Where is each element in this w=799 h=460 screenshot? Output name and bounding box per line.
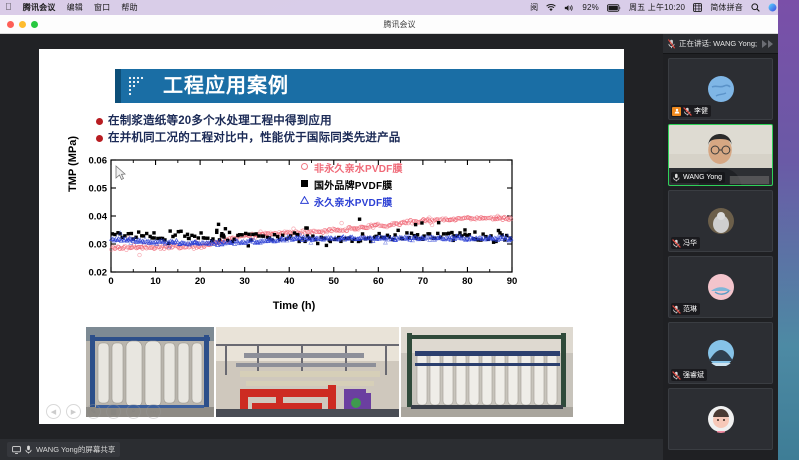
participant-name: 强睿斌 [683,370,704,380]
svg-text:0.06: 0.06 [89,155,108,166]
desktop-wallpaper-strip [778,0,799,460]
prev-slide-icon[interactable]: ◀ [46,404,61,419]
menubar-clock[interactable]: 周五 上午10:20 [629,2,685,13]
search-icon[interactable] [751,3,760,12]
chart-plot-area: 0.020.030.040.050.060102030405060708090 [69,154,519,299]
filled-square-marker-icon [299,179,309,190]
participant-tile[interactable]: 冯华 [668,190,773,252]
bullet-text: 在并机同工况的工程对比中，性能优于国际同类先进产品 [108,131,401,145]
ime-indicator[interactable]: 简体拼音 [710,2,743,13]
window-traffic-lights [7,21,38,28]
bullet-dot-icon [96,118,103,125]
active-speaker-label: 正在讲话: WANG Yong; [679,38,757,49]
open-circle-marker-icon [299,162,309,173]
participants-panel: 正在讲话: WANG Yong; [663,34,778,460]
dot-pattern-icon [127,75,149,97]
host-badge-icon [672,107,681,116]
microphone-icon [25,445,32,454]
bullet-dot-icon [96,135,103,142]
svg-text:0: 0 [108,276,113,287]
wifi-icon[interactable] [546,4,556,12]
svg-text:0.03: 0.03 [89,239,108,250]
avatar [707,339,735,367]
battery-percent: 92% [582,3,599,12]
microphone-muted-icon [668,39,675,49]
next-slide-icon[interactable]: ▶ [66,404,81,419]
menu-item-edit[interactable]: 编辑 [67,2,83,13]
mac-menu-bar:  腾讯会议 编辑 窗口 帮助 阅 92% 周五 上午10:20 简体拼音 [0,0,799,15]
avatar [707,75,735,103]
svg-text:20: 20 [195,276,206,287]
legend-entry-foreign: 国外品牌PVDF膜 [299,177,403,192]
piping-plant-photo-2 [216,327,399,417]
minimize-button[interactable] [19,21,26,28]
svg-text:40: 40 [284,276,295,287]
svg-text:30: 30 [239,276,250,287]
svg-text:50: 50 [328,276,339,287]
svg-text:0.04: 0.04 [89,211,108,222]
participant-name: 冯华 [683,238,697,248]
slide-title: 工程应用案例 [163,73,289,99]
window-titlebar: 腾讯会议 [0,15,799,34]
collapse-panel-icon[interactable] [762,40,773,48]
pen-tool-icon[interactable]: ✎ [86,404,101,419]
membrane-array-photo-3 [401,327,573,417]
participant-nametag: 冯华 [671,237,700,249]
svg-text:10: 10 [150,276,161,287]
volume-icon[interactable] [564,4,574,12]
participant-tile[interactable] [668,388,773,450]
svg-text:0.02: 0.02 [89,267,108,278]
legend-entry-nonpermanent: 非永久亲水PVDF膜 [299,160,403,175]
share-status-chip[interactable]: WANG Yong的屏幕共享 [7,442,120,457]
open-triangle-marker-icon [299,196,309,207]
bullet-text: 在制浆造纸等20多个水处理工程中得到应用 [108,114,332,128]
tmp-scatter-chart: TMP (MPa) 0.020.030.040.050.060102030405… [69,154,519,314]
more-options-icon[interactable]: ⋯ [146,404,161,419]
slide-title-content: 工程应用案例 [115,69,624,103]
zoom-button[interactable] [31,21,38,28]
active-speaker-header: 正在讲话: WANG Yong; [663,34,778,54]
avatar [707,273,735,301]
bullet-item: 在制浆造纸等20多个水处理工程中得到应用 [96,114,616,128]
monitor-icon [12,446,21,454]
apple-menu-icon[interactable]:  [5,3,12,12]
avatar [707,207,735,235]
mic-muted-icon [672,305,681,314]
participant-nametag: 范琳 [671,303,700,315]
participant-tile-active-speaker[interactable]: WANG Yong [668,124,773,186]
share-status-label: WANG Yong的屏幕共享 [36,444,115,455]
screen:  腾讯会议 编辑 窗口 帮助 阅 92% 周五 上午10:20 简体拼音 [0,0,799,460]
menu-item-app[interactable]: 腾讯会议 [23,2,56,13]
chart-legend: 非永久亲水PVDF膜 国外品牌PVDF膜 永久亲水PVDF膜 [299,160,403,211]
svg-text:70: 70 [418,276,429,287]
mic-muted-icon [672,371,681,380]
legend-label: 永久亲水PVDF膜 [314,194,392,209]
participant-tile-list: 李健 [663,54,778,454]
participant-nametag: WANG Yong [671,172,725,183]
participant-tile[interactable]: 范琳 [668,256,773,318]
legend-label: 非永久亲水PVDF膜 [314,160,403,175]
meeting-window: 工程应用案例 在制浆造纸等20多个水处理工程中得到应用 在并机同工况的工程对比中… [0,34,778,460]
participant-tile[interactable]: 强睿斌 [668,322,773,384]
chart-x-axis-label: Time (h) [69,300,519,312]
slide-bullet-list: 在制浆造纸等20多个水处理工程中得到应用 在并机同工况的工程对比中，性能优于国际… [96,114,616,148]
avatar [707,405,735,433]
svg-text:60: 60 [373,276,384,287]
menu-item-help[interactable]: 帮助 [121,2,137,13]
mic-muted-icon [672,239,681,248]
input-source-icon[interactable]: 阅 [530,2,538,13]
legend-entry-permanent: 永久亲水PVDF膜 [299,194,403,209]
participant-name: 范琳 [683,304,697,314]
mic-muted-icon [672,173,681,182]
mic-muted-icon [683,107,692,116]
bullet-item: 在并机同工况的工程对比中，性能优于国际同类先进产品 [96,131,616,145]
participant-name: 李健 [694,106,708,116]
close-button[interactable] [7,21,14,28]
presentation-slide: 工程应用案例 在制浆造纸等20多个水处理工程中得到应用 在并机同工况的工程对比中… [39,49,624,424]
menu-item-window[interactable]: 窗口 [94,2,110,13]
participant-nametag: 李健 [671,105,711,117]
siri-icon[interactable] [768,3,777,12]
screen-share-status-bar: WANG Yong的屏幕共享 [0,439,663,460]
battery-icon[interactable] [607,4,621,12]
calendar-icon[interactable] [693,3,702,12]
svg-text:0.05: 0.05 [89,183,108,194]
participant-nametag: 强睿斌 [671,369,707,381]
svg-text:90: 90 [507,276,518,287]
participant-tile[interactable]: 李健 [668,58,773,120]
window-title: 腾讯会议 [0,19,799,30]
slideshow-controls[interactable]: ◀ ▶ ✎ ▦ ⌕ ⋯ [46,404,161,419]
shared-screen-stage: 工程应用案例 在制浆造纸等20多个水处理工程中得到应用 在并机同工况的工程对比中… [0,34,663,439]
zoom-in-icon[interactable]: ⌕ [126,404,141,419]
svg-text:80: 80 [462,276,473,287]
legend-label: 国外品牌PVDF膜 [314,177,392,192]
participant-name: WANG Yong [683,174,722,181]
slide-grid-icon[interactable]: ▦ [106,404,121,419]
